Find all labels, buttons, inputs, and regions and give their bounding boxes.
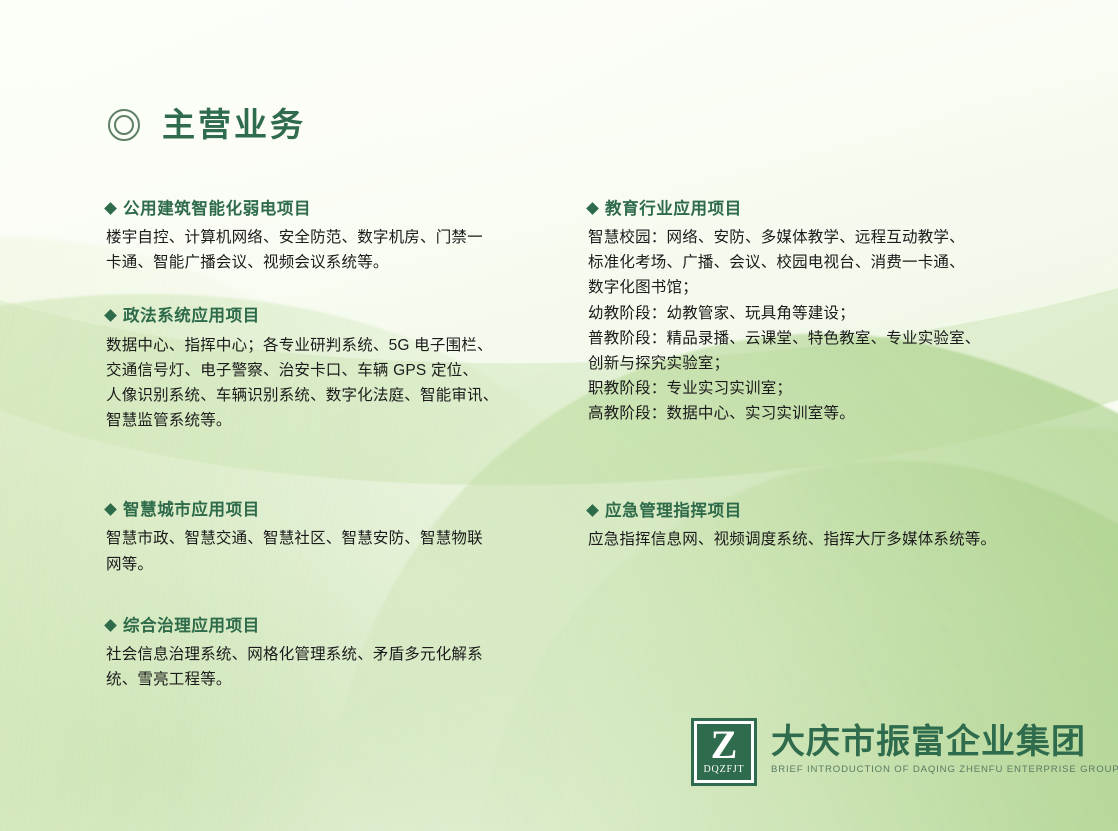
double-circle-icon [108, 109, 140, 141]
logo-wordmark: 大庆市振富企业集团 BRIEF INTRODUCTION OF DAQING Z… [771, 718, 1118, 775]
body-line: 网等。 [106, 552, 558, 577]
section-heading-text: 政法系统应用项目 [123, 305, 260, 327]
section-heading: 政法系统应用项目 [106, 305, 558, 327]
logo-mark-icon: Z DQZFJT [691, 718, 757, 786]
diamond-bullet-icon [586, 504, 599, 517]
section-heading-text: 应急管理指挥项目 [605, 500, 742, 522]
logo-abbreviation: DQZFJT [704, 765, 745, 775]
left-column: 公用建筑智能化弱电项目 楼宇自控、计算机网络、安全防范、数字机房、门禁一 卡通、… [106, 198, 558, 718]
logo-letter-z: Z [711, 726, 738, 764]
section-comprehensive-governance: 综合治理应用项目 社会信息治理系统、网格化管理系统、矛盾多元化解系 统、雪亮工程… [106, 615, 558, 692]
page-content: 主营业务 公用建筑智能化弱电项目 楼宇自控、计算机网络、安全防范、数字机房、门禁… [0, 0, 1118, 831]
body-line: 统、雪亮工程等。 [106, 667, 558, 692]
company-logo: Z DQZFJT 大庆市振富企业集团 BRIEF INTRODUCTION OF… [691, 718, 1118, 786]
section-heading-text: 综合治理应用项目 [123, 615, 260, 637]
section-heading: 智慧城市应用项目 [106, 499, 558, 521]
body-line: 标准化考场、广播、会议、校园电视台、消费一卡通、 [588, 250, 1058, 275]
section-public-building: 公用建筑智能化弱电项目 楼宇自控、计算机网络、安全防范、数字机房、门禁一 卡通、… [106, 198, 558, 275]
body-line: 智慧市政、智慧交通、智慧社区、智慧安防、智慧物联 [106, 526, 558, 551]
diamond-bullet-icon [104, 619, 117, 632]
section-emergency-management: 应急管理指挥项目 应急指挥信息网、视频调度系统、指挥大厅多媒体系统等。 [588, 500, 1058, 552]
diamond-bullet-icon [586, 202, 599, 215]
body-line: 智慧校园：网络、安防、多媒体教学、远程互动教学、 [588, 225, 1058, 250]
section-heading-text: 教育行业应用项目 [605, 198, 742, 220]
section-body: 社会信息治理系统、网格化管理系统、矛盾多元化解系 统、雪亮工程等。 [106, 642, 558, 692]
section-body: 智慧市政、智慧交通、智慧社区、智慧安防、智慧物联 网等。 [106, 526, 558, 576]
section-body: 楼宇自控、计算机网络、安全防范、数字机房、门禁一 卡通、智能广播会议、视频会议系… [106, 225, 558, 275]
body-line: 交通信号灯、电子警察、治安卡口、车辆 GPS 定位、 [106, 358, 558, 383]
right-column: 教育行业应用项目 智慧校园：网络、安防、多媒体教学、远程互动教学、 标准化考场、… [588, 198, 1058, 579]
body-line: 高教阶段：数据中心、实习实训室等。 [588, 401, 1058, 426]
body-line: 智慧监管系统等。 [106, 408, 558, 433]
body-line: 职教阶段：专业实习实训室； [588, 376, 1058, 401]
page-title-text: 主营业务 [162, 108, 306, 141]
body-line: 楼宇自控、计算机网络、安全防范、数字机房、门禁一 [106, 225, 558, 250]
brochure-page: 主营业务 公用建筑智能化弱电项目 楼宇自控、计算机网络、安全防范、数字机房、门禁… [0, 0, 1118, 831]
section-heading: 教育行业应用项目 [588, 198, 1058, 220]
body-line: 数字化图书馆； [588, 275, 1058, 300]
body-line: 普教阶段：精品录播、云课堂、特色教室、专业实验室、 [588, 326, 1058, 351]
company-name-cn: 大庆市振富企业集团 [771, 724, 1118, 761]
body-line: 卡通、智能广播会议、视频会议系统等。 [106, 250, 558, 275]
body-line: 创新与探究实验室； [588, 351, 1058, 376]
section-heading-text: 公用建筑智能化弱电项目 [123, 198, 311, 220]
diamond-bullet-icon [104, 503, 117, 516]
section-body: 应急指挥信息网、视频调度系统、指挥大厅多媒体系统等。 [588, 527, 1058, 552]
body-line: 社会信息治理系统、网格化管理系统、矛盾多元化解系 [106, 642, 558, 667]
section-body: 数据中心、指挥中心；各专业研判系统、5G 电子围栏、 交通信号灯、电子警察、治安… [106, 333, 558, 433]
section-heading: 公用建筑智能化弱电项目 [106, 198, 558, 220]
section-smart-city: 智慧城市应用项目 智慧市政、智慧交通、智慧社区、智慧安防、智慧物联 网等。 [106, 499, 558, 576]
logo-mark-inner: Z DQZFJT [697, 724, 751, 780]
section-heading: 综合治理应用项目 [106, 615, 558, 637]
section-heading: 应急管理指挥项目 [588, 500, 1058, 522]
section-heading-text: 智慧城市应用项目 [123, 499, 260, 521]
section-education-industry: 教育行业应用项目 智慧校园：网络、安防、多媒体教学、远程互动教学、 标准化考场、… [588, 198, 1058, 426]
body-line: 幼教阶段：幼教管家、玩具角等建设； [588, 301, 1058, 326]
body-line: 数据中心、指挥中心；各专业研判系统、5G 电子围栏、 [106, 333, 558, 358]
body-line: 人像识别系统、车辆识别系统、数字化法庭、智能审讯、 [106, 383, 558, 408]
page-title: 主营业务 [108, 108, 306, 141]
section-body: 智慧校园：网络、安防、多媒体教学、远程互动教学、 标准化考场、广播、会议、校园电… [588, 225, 1058, 426]
section-judicial-system: 政法系统应用项目 数据中心、指挥中心；各专业研判系统、5G 电子围栏、 交通信号… [106, 305, 558, 433]
body-line: 应急指挥信息网、视频调度系统、指挥大厅多媒体系统等。 [588, 527, 1058, 552]
diamond-bullet-icon [104, 202, 117, 215]
diamond-bullet-icon [104, 310, 117, 323]
company-name-en: BRIEF INTRODUCTION OF DAQING ZHENFU ENTE… [771, 764, 1118, 775]
